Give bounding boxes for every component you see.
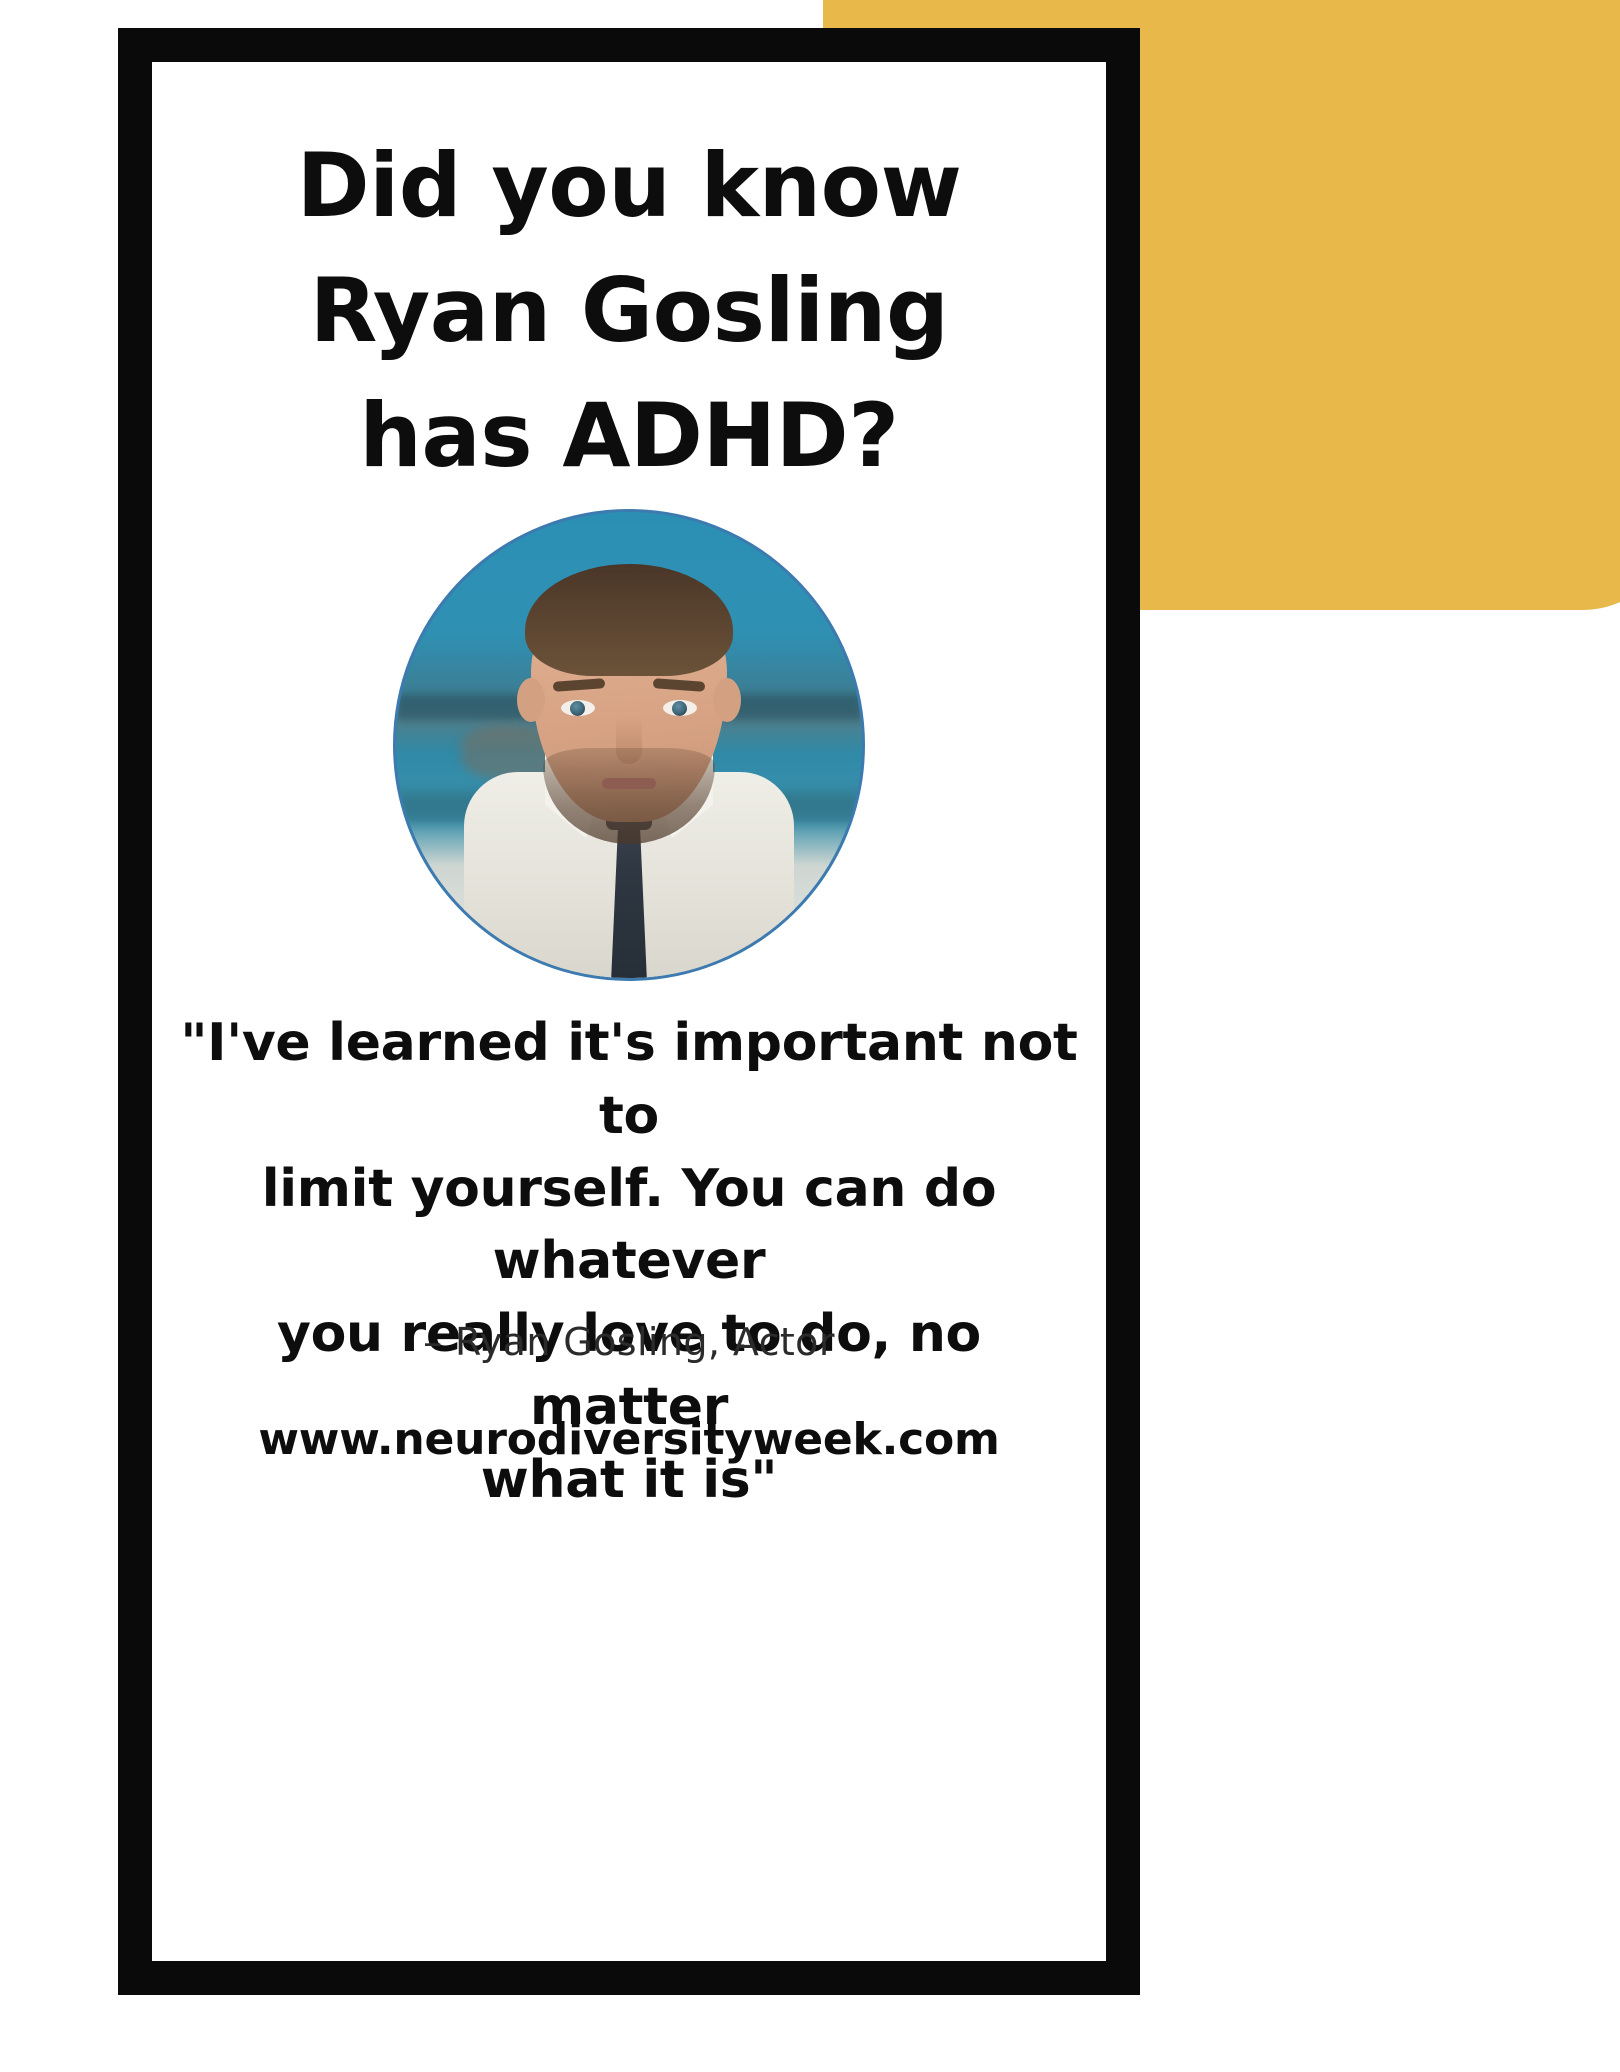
hair bbox=[525, 564, 733, 676]
eye-left bbox=[561, 700, 595, 716]
headline-line-1: Did you know bbox=[152, 124, 1106, 249]
black-frame-border: Did you know Ryan Gosling has ADHD? bbox=[118, 28, 1140, 1995]
mouth bbox=[602, 778, 656, 789]
headline-line-3: has ADHD? bbox=[152, 374, 1106, 499]
website-url: www.neurodiversityweek.com bbox=[152, 1414, 1106, 1465]
quote-attribution: – Ryan Gosling, Actor bbox=[152, 1320, 1106, 1364]
quote-line-2: limit yourself. You can do whatever bbox=[174, 1153, 1084, 1299]
eye-right bbox=[663, 700, 697, 716]
quote-line-1: "I've learned it's important not to bbox=[174, 1007, 1084, 1153]
ear-right bbox=[713, 678, 741, 722]
headline-line-2: Ryan Gosling bbox=[152, 249, 1106, 374]
portrait-image bbox=[396, 512, 862, 978]
page-title: Did you know Ryan Gosling has ADHD? bbox=[152, 124, 1106, 499]
poster-card: Did you know Ryan Gosling has ADHD? bbox=[152, 62, 1106, 1961]
portrait-avatar bbox=[393, 509, 865, 981]
ear-left bbox=[517, 678, 545, 722]
poster-canvas: Did you know Ryan Gosling has ADHD? bbox=[0, 0, 1620, 2072]
